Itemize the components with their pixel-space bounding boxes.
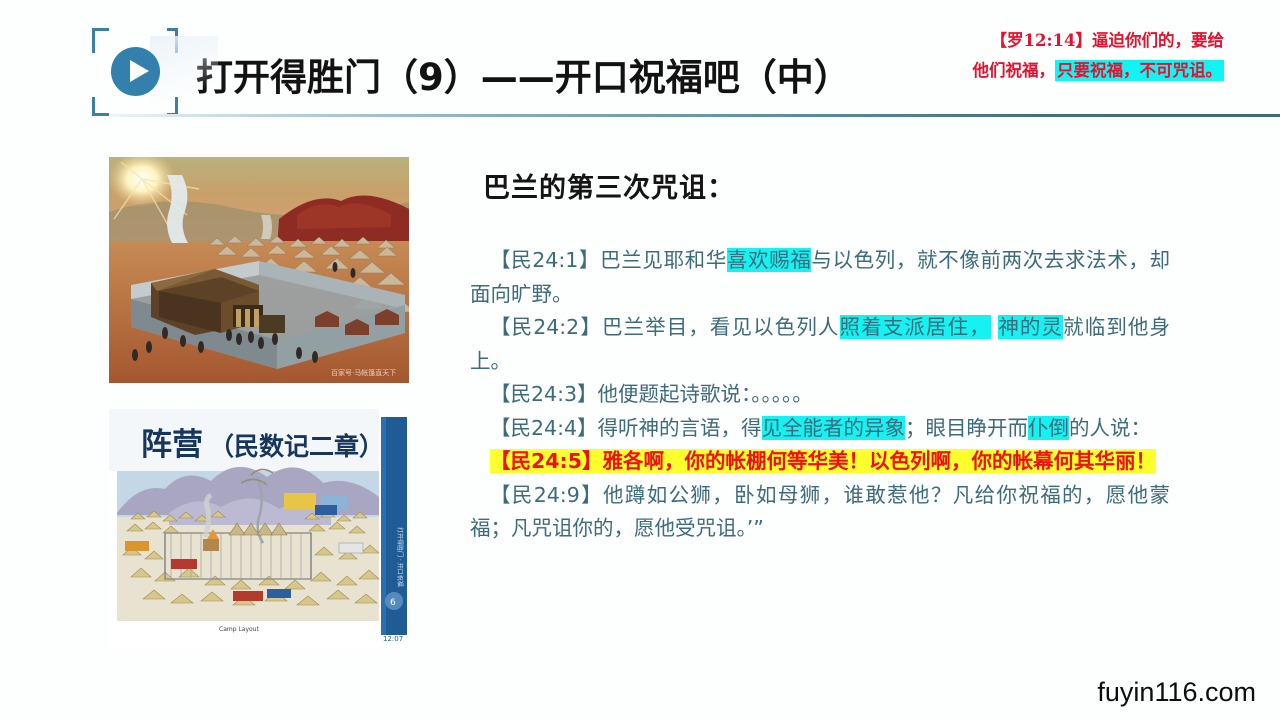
verse-24-4: 【民24:4】得听神的言语，得见全能者的异象；眼目睁开而仆倒的人说： [470, 412, 1170, 446]
top-scripture-quote: 【罗12:14】逼迫你们的，要给 他们祝福，只要祝福，不可咒诅。 [892, 26, 1224, 86]
verse-seg: ；眼目睁开而 [905, 416, 1028, 440]
tabernacle-illustration: 百家号·马帐篷直天下 [109, 157, 409, 383]
camp-layout-illustration: 阵营 （民数记二章） [109, 409, 409, 647]
svg-text:6: 6 [390, 598, 396, 608]
verse-seg: 巴兰见耶和华 [600, 248, 727, 272]
svg-text:12:07: 12:07 [383, 635, 403, 643]
verse-24-1: 【民24:1】巴兰见耶和华喜欢赐福与以色列，就不像前两次去求法术，却面向旷野。 [470, 244, 1170, 311]
slide-header: 打开得胜门（9）——开口祝福吧（中） 【罗12:14】逼迫你们的，要给 他们祝福… [0, 0, 1280, 130]
verse-seg: 得听神的言语，得 [598, 416, 762, 440]
svg-text:百家号·马帐篷直天下: 百家号·马帐篷直天下 [331, 368, 396, 377]
verse-24-3: 【民24:3】他便题起诗歌说：。。。。。 [470, 378, 1170, 412]
site-watermark: fuyin116.com [1097, 677, 1256, 708]
verse-seg-highlight: 仆倒 [1028, 416, 1069, 440]
header-divider [110, 114, 1280, 117]
verse-seg-highlight: 雅各啊，你的帐棚何等华美！以色列啊，你的帐幕何其华丽！ [603, 449, 1157, 473]
svg-text:Camp Layout: Camp Layout [219, 626, 259, 633]
verse-seg: 的人说： [1069, 416, 1151, 440]
verse-ref: 【民24:1】 [490, 248, 600, 272]
verse-ref: 【民24:9】 [490, 483, 603, 507]
verse-24-2: 【民24:2】巴兰举目，看见以色列人照着支派居住， 神的灵就临到他身上。 [470, 311, 1170, 378]
svg-text:打开得胜门 · 开口祝福: 打开得胜门 · 开口祝福 [396, 527, 404, 587]
top-scripture-line2: 他们祝福， [973, 61, 1056, 80]
verse-seg-highlight: 神的灵 [998, 315, 1063, 339]
verse-seg-highlight: 见全能者的异象 [762, 416, 906, 440]
play-button-icon [111, 47, 160, 96]
play-triangle-icon [130, 60, 149, 82]
top-scripture-line1: 逼迫你们的，要给 [1092, 31, 1224, 50]
verse-ref: 【民24:2】 [490, 315, 602, 339]
section-heading: 巴兰的第三次咒诅： [483, 166, 735, 205]
svg-text:（民数记二章）: （民数记二章） [209, 432, 384, 461]
verse-seg: 巴兰举目，看见以色列人 [602, 315, 840, 339]
top-scripture-highlight: 只要祝福，不可咒诅。 [1055, 60, 1224, 81]
scripture-body: 【民24:1】巴兰见耶和华喜欢赐福与以色列，就不像前两次去求法术，却面向旷野。 … [470, 244, 1170, 546]
camp-layout-slide: 阵营 （民数记二章） [109, 409, 409, 647]
verse-seg: 他便题起诗歌说：。。。。。 [598, 382, 813, 406]
verse-ref: 【民24:3】 [490, 382, 598, 406]
verse-ref: 【民24:4】 [490, 416, 598, 440]
verse-seg-highlight: 喜欢赐福 [727, 248, 812, 272]
verse-seg-highlight: 照着支派居住， [840, 315, 991, 339]
verse-24-9: 【民24:9】他蹲如公狮，卧如母狮，谁敢惹他？凡给你祝福的，愿他蒙福；凡咒诅你的… [470, 479, 1170, 546]
verse-ref: 【民24:5】 [490, 449, 603, 473]
verse-24-5: 【民24:5】雅各啊，你的帐棚何等华美！以色列啊，你的帐幕何其华丽！ [470, 445, 1170, 479]
page-title: 打开得胜门（9）——开口祝福吧（中） [196, 47, 851, 101]
tabernacle-camp-painting: 百家号·马帐篷直天下 [109, 157, 409, 383]
logo-sheen [150, 36, 218, 112]
svg-text:阵营: 阵营 [141, 427, 203, 463]
top-scripture-reference: 【罗12:14】 [990, 31, 1092, 50]
